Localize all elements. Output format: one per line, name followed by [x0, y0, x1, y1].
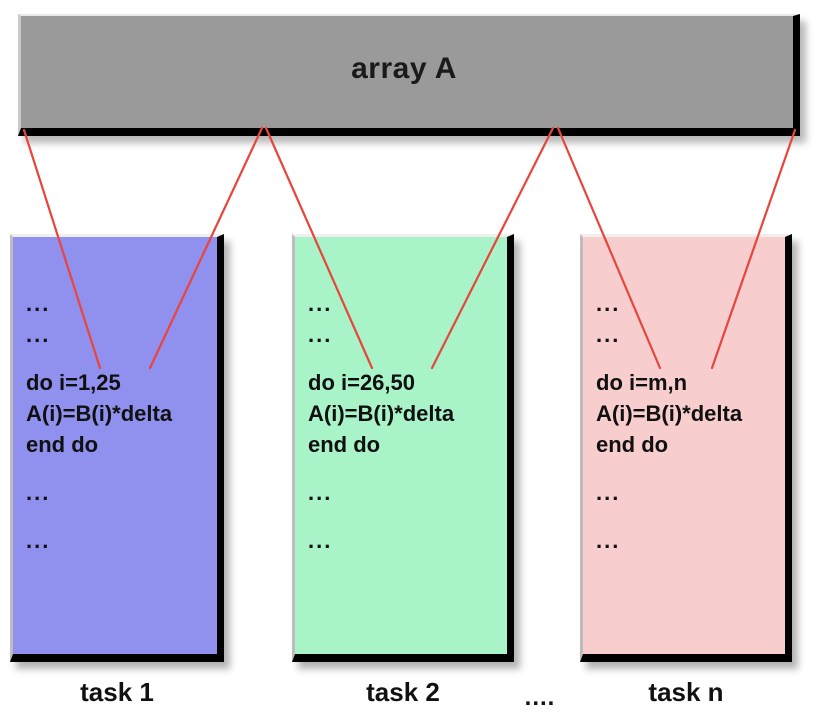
task-2-code: ... ... do i=26,50 A(i)=B(i)*delta end d… [308, 293, 454, 561]
code-line: ... [26, 482, 172, 530]
code-line-assign: A(i)=B(i)*delta [596, 403, 742, 434]
array-a-bar: array A [18, 14, 800, 136]
code-line: ... [26, 324, 172, 372]
code-line: ... [308, 293, 454, 324]
code-line-do: do i=m,n [596, 372, 742, 403]
code-line: ... [26, 530, 172, 561]
array-a-label: array A [351, 52, 457, 86]
task-label-task-2: task 2 [292, 677, 514, 708]
code-line-assign: A(i)=B(i)*delta [26, 403, 172, 434]
task-box-task-n: ... ... do i=m,n A(i)=B(i)*delta end do … [580, 234, 792, 662]
code-line-enddo: end do [26, 434, 172, 482]
task-label-separator: .... [490, 684, 590, 712]
code-line: ... [596, 530, 742, 561]
task-label-task-1: task 1 [10, 677, 224, 708]
code-line: ... [308, 324, 454, 372]
task-n-code: ... ... do i=m,n A(i)=B(i)*delta end do … [596, 293, 742, 561]
task-label-task-n: task n [580, 677, 792, 708]
diagram-canvas: array A ... ... do i=1,25 A(i)=B(i)*delt… [0, 0, 818, 724]
task-box-task-2: ... ... do i=26,50 A(i)=B(i)*delta end d… [292, 234, 514, 662]
code-line-do: do i=26,50 [308, 372, 454, 403]
code-line: ... [596, 324, 742, 372]
task-box-task-1: ... ... do i=1,25 A(i)=B(i)*delta end do… [10, 234, 224, 662]
code-line: ... [596, 482, 742, 530]
task-1-code: ... ... do i=1,25 A(i)=B(i)*delta end do… [26, 293, 172, 561]
code-line-enddo: end do [596, 434, 742, 482]
code-line: ... [26, 293, 172, 324]
code-line-assign: A(i)=B(i)*delta [308, 403, 454, 434]
code-line: ... [596, 293, 742, 324]
code-line-enddo: end do [308, 434, 454, 482]
code-line: ... [308, 482, 454, 530]
code-line-do: do i=1,25 [26, 372, 172, 403]
code-line: ... [308, 530, 454, 561]
